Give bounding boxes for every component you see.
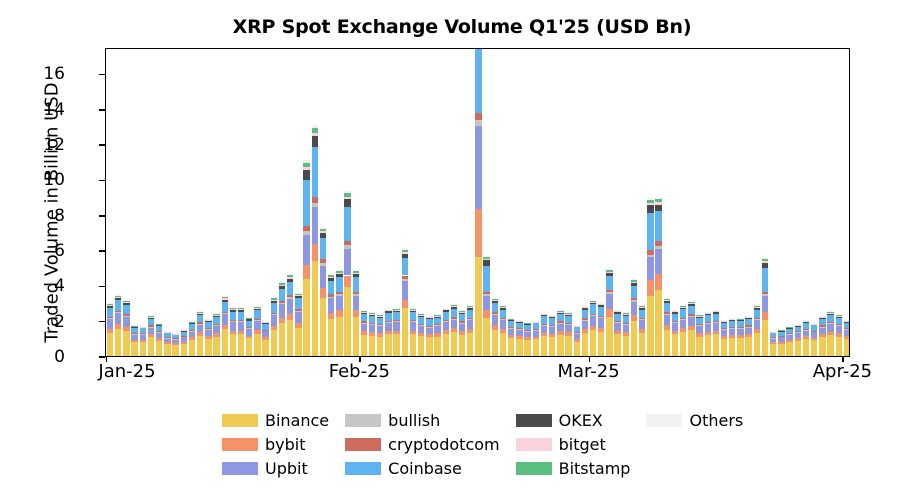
bar-segment-bitget bbox=[533, 322, 539, 323]
bar-segment-coinbase bbox=[443, 312, 449, 320]
bar-segment-bitget bbox=[721, 321, 727, 322]
bar-segment-bullish bbox=[565, 324, 571, 325]
bar-segment-bitget bbox=[287, 277, 293, 278]
bar-segment-bullish bbox=[795, 332, 801, 333]
bar-segment-okex bbox=[385, 311, 391, 313]
bar-segment-bitget bbox=[295, 295, 301, 296]
bar-segment-cryptodotcom bbox=[434, 324, 440, 325]
x-tick-mark bbox=[359, 357, 361, 362]
bar-segment-bybit bbox=[516, 336, 522, 339]
bar-segment-bullish bbox=[623, 324, 629, 325]
bar-segment-coinbase bbox=[402, 258, 408, 276]
bar-segment-okex bbox=[443, 310, 449, 312]
bar-segment-others bbox=[222, 296, 228, 297]
bar-segment-upbit bbox=[197, 325, 203, 333]
bar-segment-coinbase bbox=[156, 326, 162, 331]
bar-segment-binance bbox=[737, 338, 743, 356]
bar-segment-binance bbox=[745, 337, 751, 356]
bar-segment-binance bbox=[205, 339, 211, 356]
bar-segment-bitstamp bbox=[107, 304, 113, 305]
bar-segment-coinbase bbox=[172, 335, 178, 339]
bar-segment-bybit bbox=[713, 331, 719, 335]
bar-segment-bullish bbox=[181, 336, 187, 337]
bar-segment-okex bbox=[344, 199, 350, 206]
bar-segment-bybit bbox=[533, 337, 539, 340]
bar-segment-upbit bbox=[533, 331, 539, 337]
bar-segment-okex bbox=[377, 316, 383, 317]
bar-segment-bybit bbox=[246, 336, 252, 339]
bar-segment-okex bbox=[262, 323, 268, 324]
bar-segment-binance bbox=[459, 335, 465, 356]
bar-segment-bybit bbox=[664, 325, 670, 330]
bar-segment-binance bbox=[140, 342, 146, 356]
bar-segment-upbit bbox=[729, 329, 735, 335]
bar-segment-bitstamp bbox=[639, 306, 645, 307]
bar-segment-bybit bbox=[688, 326, 694, 330]
bar-segment-bitget bbox=[140, 327, 146, 328]
bar-segment-others bbox=[115, 295, 121, 296]
bar-segment-cryptodotcom bbox=[721, 328, 727, 329]
bar-segment-bitget bbox=[729, 319, 735, 320]
bar-segment-cryptodotcom bbox=[107, 317, 113, 318]
bar-segment-coinbase bbox=[639, 310, 645, 318]
legend-item-bullish[interactable]: bullish bbox=[345, 408, 499, 432]
bar-segment-bitget bbox=[197, 313, 203, 314]
bar-segment-bitstamp bbox=[434, 315, 440, 316]
bar-segment-bullish bbox=[492, 314, 498, 315]
bar-segment-bullish bbox=[189, 331, 195, 332]
bar-segment-bitstamp bbox=[836, 315, 842, 316]
bar-segment-bullish bbox=[246, 328, 252, 329]
bar-segment-binance bbox=[533, 339, 539, 356]
bar-segment-upbit bbox=[148, 327, 154, 334]
bar-segment-bullish bbox=[737, 328, 743, 329]
bar-segment-bybit bbox=[795, 338, 801, 340]
bar-segment-binance bbox=[565, 336, 571, 356]
legend-label: Upbit bbox=[265, 459, 308, 478]
bar-segment-bybit bbox=[189, 337, 195, 340]
bar-segment-bitget bbox=[377, 316, 383, 317]
bar-segment-bitstamp bbox=[516, 320, 522, 321]
bar-segment-upbit bbox=[262, 331, 268, 337]
bar-segment-bullish bbox=[131, 334, 137, 335]
bar-segment-others bbox=[549, 315, 555, 316]
bar-segment-bybit bbox=[181, 342, 187, 344]
bar-segment-binance bbox=[754, 333, 760, 356]
bar-segment-bybit bbox=[336, 310, 342, 317]
bar-segment-bullish bbox=[672, 322, 678, 323]
bar-segment-cryptodotcom bbox=[844, 328, 850, 329]
bar-segment-okex bbox=[688, 304, 694, 306]
bar-segment-okex bbox=[582, 308, 588, 310]
bar-segment-binance bbox=[516, 339, 522, 356]
bar-segment-cryptodotcom bbox=[115, 311, 121, 313]
bar-segment-bitget bbox=[762, 261, 768, 263]
bar-segment-coinbase bbox=[745, 319, 751, 325]
bar-segment-cryptodotcom bbox=[271, 313, 277, 315]
bar-segment-coinbase bbox=[459, 314, 465, 321]
bar-segment-bullish bbox=[107, 318, 113, 319]
bar-segment-bybit bbox=[312, 244, 318, 260]
bar-segment-bybit bbox=[762, 312, 768, 319]
bar-segment-bybit bbox=[623, 332, 629, 335]
bar-segment-others bbox=[189, 321, 195, 322]
bar-segment-bitstamp bbox=[303, 163, 309, 167]
legend-item-bitstamp[interactable]: Bitstamp bbox=[516, 456, 631, 480]
bar-segment-binance bbox=[557, 335, 563, 356]
bar-segment-coinbase bbox=[770, 333, 776, 337]
legend-item-bitget[interactable]: bitget bbox=[516, 432, 631, 456]
bar-segment-binance bbox=[336, 317, 342, 356]
bar-segment-bybit bbox=[287, 314, 293, 320]
bar-segment-bullish bbox=[148, 327, 154, 328]
bar-segment-bybit bbox=[598, 328, 604, 332]
bar-segment-cryptodotcom bbox=[664, 312, 670, 314]
bar-segment-bybit bbox=[123, 327, 129, 331]
bar-segment-bitstamp bbox=[754, 306, 760, 307]
bar-segment-coinbase bbox=[123, 305, 129, 315]
bar-segment-binance bbox=[443, 334, 449, 356]
legend-item-others[interactable]: Others bbox=[646, 408, 743, 432]
bar-segment-coinbase bbox=[418, 317, 424, 324]
bar-segment-okex bbox=[164, 332, 170, 333]
bar-segment-bitstamp bbox=[582, 306, 588, 307]
bar-segment-bybit bbox=[320, 288, 326, 298]
bar-segment-coinbase bbox=[729, 321, 735, 327]
bar-segment-others bbox=[590, 300, 596, 301]
bar-segment-others bbox=[623, 312, 629, 313]
bar-segment-upbit bbox=[590, 316, 596, 326]
bar-segment-okex bbox=[705, 314, 711, 315]
bar-segment-coinbase bbox=[254, 310, 260, 318]
bar-segment-coinbase bbox=[353, 277, 359, 291]
bar-segment-upbit bbox=[811, 332, 817, 338]
legend-item-bybit[interactable]: bybit bbox=[222, 432, 329, 456]
bar-segment-cryptodotcom bbox=[647, 250, 653, 254]
bar-segment-bullish bbox=[705, 323, 711, 324]
bar-segment-coinbase bbox=[279, 289, 285, 301]
bar-segment-upbit bbox=[295, 312, 301, 323]
legend-item-binance[interactable]: Binance bbox=[222, 408, 329, 432]
bar-segment-coinbase bbox=[713, 314, 719, 321]
bar-segment-cryptodotcom bbox=[353, 292, 359, 294]
bar-segment-bitstamp bbox=[385, 309, 391, 310]
bar-segment-coinbase bbox=[565, 316, 571, 323]
legend-swatch-icon bbox=[516, 462, 552, 475]
bar-segment-bitstamp bbox=[369, 313, 375, 314]
bar-segment-bitget bbox=[410, 310, 416, 311]
bar-segment-bybit bbox=[565, 332, 571, 335]
bar-segment-bybit bbox=[705, 332, 711, 336]
bar-segment-binance bbox=[418, 336, 424, 356]
bar-segment-okex bbox=[393, 311, 399, 313]
bar-segment-binance bbox=[254, 334, 260, 356]
bar-segment-bybit bbox=[827, 332, 833, 336]
bar-segment-binance bbox=[606, 317, 612, 356]
legend-label: Binance bbox=[265, 411, 329, 430]
bar-segment-cryptodotcom bbox=[156, 331, 162, 332]
bar-segment-bitstamp bbox=[590, 300, 596, 301]
bar-segment-bullish bbox=[328, 297, 334, 299]
bar-segment-cryptodotcom bbox=[762, 292, 768, 294]
bar-segment-upbit bbox=[451, 320, 457, 329]
bar-segment-cryptodotcom bbox=[614, 321, 620, 322]
legend-item-coinbase[interactable]: Coinbase bbox=[345, 456, 499, 480]
bar-segment-others bbox=[369, 312, 375, 313]
bar-segment-upbit bbox=[172, 339, 178, 343]
bar-segment-bullish bbox=[631, 300, 637, 302]
bar-segment-bitget bbox=[745, 317, 751, 318]
bar-segment-coinbase bbox=[541, 316, 547, 323]
bar-segment-bitget bbox=[811, 324, 817, 325]
bar-segment-bitstamp bbox=[361, 311, 367, 312]
bar-segment-okex bbox=[271, 301, 277, 303]
bar-segment-bitstamp bbox=[672, 310, 678, 311]
bar-segment-bybit bbox=[197, 332, 203, 335]
bar-segment-upbit bbox=[672, 323, 678, 331]
y-tick-label: 2 bbox=[54, 312, 65, 332]
bar-segment-cryptodotcom bbox=[303, 226, 309, 231]
bar-segment-bitstamp bbox=[565, 313, 571, 314]
bar-segment-bitstamp bbox=[246, 318, 252, 319]
bar-segment-coinbase bbox=[385, 313, 391, 321]
bar-segment-upbit bbox=[287, 299, 293, 313]
bar-segment-binance bbox=[639, 333, 645, 356]
bar-segment-bitstamp bbox=[164, 331, 170, 332]
bar-segment-bitget bbox=[344, 197, 350, 199]
bar-segment-okex bbox=[713, 312, 719, 314]
bar-segment-bitget bbox=[148, 317, 154, 318]
bar-segment-cryptodotcom bbox=[181, 336, 187, 337]
x-tick-mark bbox=[106, 357, 108, 362]
bar-segment-coinbase bbox=[426, 319, 432, 325]
bar-segment-bitstamp bbox=[574, 325, 580, 326]
bar-segment-bitstamp bbox=[287, 275, 293, 277]
bar-segment-bybit bbox=[328, 313, 334, 319]
bar-segment-okex bbox=[541, 315, 547, 316]
bar-segment-coinbase bbox=[680, 309, 686, 317]
bar-segment-binance bbox=[222, 329, 228, 356]
bar-segment-bitget bbox=[320, 231, 326, 233]
bar-segment-binance bbox=[213, 337, 219, 356]
legend-label: cryptodotcom bbox=[388, 435, 499, 454]
bar-segment-coinbase bbox=[631, 286, 637, 298]
bar-segment-bitget bbox=[385, 310, 391, 311]
bar-segment-cryptodotcom bbox=[148, 325, 154, 326]
bar-segment-bybit bbox=[745, 334, 751, 337]
bar-segment-bitstamp bbox=[795, 324, 801, 325]
bar-segment-bitget bbox=[836, 316, 842, 317]
bar-segment-okex bbox=[672, 312, 678, 314]
bar-segment-bybit bbox=[786, 340, 792, 342]
bar-segment-others bbox=[271, 297, 277, 298]
legend-item-okex[interactable]: OKEX bbox=[516, 408, 631, 432]
bar-segment-others bbox=[639, 305, 645, 306]
bar-segment-okex bbox=[287, 279, 293, 282]
bar-segment-bitget bbox=[803, 321, 809, 322]
bar-segment-bitget bbox=[213, 315, 219, 316]
bar-segment-bitget bbox=[631, 282, 637, 283]
bar-segment-bullish bbox=[639, 319, 645, 320]
bar-segment-upbit bbox=[541, 325, 547, 332]
bar-segment-coinbase bbox=[140, 328, 146, 333]
bar-segment-bitstamp bbox=[492, 299, 498, 300]
bar-segment-binance bbox=[467, 333, 473, 356]
bar-segment-okex bbox=[565, 314, 571, 315]
bar-segment-bitget bbox=[680, 307, 686, 308]
bar-segment-cryptodotcom bbox=[557, 321, 563, 322]
bar-segment-bitget bbox=[312, 133, 318, 137]
bar-segment-bitstamp bbox=[762, 259, 768, 261]
bar-segment-okex bbox=[786, 328, 792, 329]
bar-segment-cryptodotcom bbox=[140, 333, 146, 334]
bar-segment-coinbase bbox=[737, 321, 743, 327]
bar-segment-bullish bbox=[238, 321, 244, 322]
bar-segment-bybit bbox=[819, 334, 825, 337]
bar-segment-bitget bbox=[623, 314, 629, 315]
bar-segment-cryptodotcom bbox=[827, 322, 833, 323]
bar-segment-bitstamp bbox=[745, 316, 751, 317]
bar-segment-cryptodotcom bbox=[672, 321, 678, 322]
bar-segment-others bbox=[459, 310, 465, 311]
bar-segment-okex bbox=[328, 278, 334, 281]
bar-segment-bullish bbox=[295, 311, 301, 312]
bar-segment-bitget bbox=[647, 203, 653, 205]
bar-segment-okex bbox=[426, 318, 432, 319]
bar-segment-bitstamp bbox=[312, 128, 318, 133]
bar-segment-bitget bbox=[516, 321, 522, 322]
bar-segment-bitstamp bbox=[205, 319, 211, 320]
bar-segment-binance bbox=[230, 334, 236, 356]
bar-segment-bitget bbox=[696, 316, 702, 317]
bar-segment-bybit bbox=[524, 337, 530, 340]
bar-segment-bitstamp bbox=[172, 333, 178, 334]
bar-segment-binance bbox=[483, 318, 489, 356]
bar-segment-okex bbox=[606, 273, 612, 276]
bar-segment-bullish bbox=[713, 322, 719, 323]
bar-segment-bullish bbox=[156, 332, 162, 333]
bar-segment-coinbase bbox=[582, 310, 588, 318]
legend-item-upbit[interactable]: Upbit bbox=[222, 456, 329, 480]
bar-segment-bitstamp bbox=[631, 280, 637, 282]
bar-segment-bitget bbox=[451, 306, 457, 307]
bar-segment-okex bbox=[131, 327, 137, 328]
bar-segment-cryptodotcom bbox=[737, 327, 743, 328]
bar-segment-bullish bbox=[647, 255, 653, 258]
y-tick-label: 8 bbox=[54, 206, 65, 226]
bar-segment-upbit bbox=[762, 296, 768, 312]
bar-segment-okex bbox=[434, 316, 440, 317]
bar-segment-bybit bbox=[500, 329, 506, 334]
bar-segment-coinbase bbox=[778, 331, 784, 335]
bar-segment-upbit bbox=[426, 328, 432, 335]
bar-segment-binance bbox=[320, 298, 326, 356]
bar-segment-cryptodotcom bbox=[754, 318, 760, 319]
bar-segment-upbit bbox=[467, 320, 473, 328]
bar-segment-okex bbox=[524, 324, 530, 325]
bar-segment-bitget bbox=[353, 273, 359, 274]
bar-segment-okex bbox=[189, 323, 195, 324]
bar-segment-cryptodotcom bbox=[123, 314, 129, 315]
bar-segment-bullish bbox=[770, 338, 776, 339]
bar-segment-bitstamp bbox=[713, 310, 719, 311]
bar-segment-bitstamp bbox=[115, 296, 121, 297]
bar-segment-others bbox=[262, 321, 268, 322]
legend-swatch-icon bbox=[345, 414, 381, 427]
x-tick-mark bbox=[842, 357, 844, 362]
bar-segment-upbit bbox=[614, 323, 620, 331]
bar-segment-others bbox=[353, 270, 359, 271]
bar-segment-bitstamp bbox=[344, 193, 350, 197]
bar-segment-okex bbox=[745, 318, 751, 319]
bar-segment-cryptodotcom bbox=[361, 321, 367, 322]
bar-segment-upbit bbox=[565, 325, 571, 332]
bar-segment-upbit bbox=[745, 327, 751, 334]
bar-segment-bitstamp bbox=[123, 301, 129, 302]
bar-segment-okex bbox=[238, 310, 244, 312]
bar-segment-bitget bbox=[271, 300, 277, 301]
bar-segment-bullish bbox=[123, 316, 129, 317]
bar-segment-upbit bbox=[754, 320, 760, 328]
bar-segment-cryptodotcom bbox=[426, 326, 432, 327]
x-tick-label: Jan-25 bbox=[98, 361, 155, 382]
bar-segment-bitstamp bbox=[483, 257, 489, 259]
bar-segment-coinbase bbox=[721, 323, 727, 329]
bar-segment-bitstamp bbox=[295, 294, 301, 296]
bar-segment-cryptodotcom bbox=[541, 324, 547, 325]
bar-segment-others bbox=[205, 319, 211, 320]
bar-segment-bullish bbox=[696, 325, 702, 326]
bar-segment-bitstamp bbox=[189, 322, 195, 323]
bar-segment-coinbase bbox=[148, 319, 154, 326]
bar-segment-cryptodotcom bbox=[680, 318, 686, 319]
bar-segment-bullish bbox=[213, 325, 219, 326]
bar-segment-bybit bbox=[549, 334, 555, 337]
bar-segment-okex bbox=[827, 314, 833, 315]
bar-segment-others bbox=[672, 310, 678, 311]
bar-segment-coinbase bbox=[410, 312, 416, 320]
bar-segment-bullish bbox=[434, 325, 440, 326]
bar-segment-bullish bbox=[140, 334, 146, 335]
bar-segment-others bbox=[246, 317, 252, 318]
bar-segment-cryptodotcom bbox=[369, 323, 375, 324]
bar-segment-cryptodotcom bbox=[565, 323, 571, 324]
bar-segment-upbit bbox=[664, 315, 670, 325]
bar-segment-others bbox=[647, 198, 653, 200]
bar-segment-upbit bbox=[303, 235, 309, 265]
bar-segment-bybit bbox=[156, 338, 162, 340]
chart-legend: BinancebybitUpbitbullishcryptodotcomCoin… bbox=[222, 408, 722, 480]
bar-segment-cryptodotcom bbox=[189, 330, 195, 331]
legend-item-cryptodotcom[interactable]: cryptodotcom bbox=[345, 432, 499, 456]
bar-segment-upbit bbox=[516, 330, 522, 336]
bar-segment-bitstamp bbox=[254, 307, 260, 308]
bar-segment-bitstamp bbox=[533, 321, 539, 322]
bar-segment-bitstamp bbox=[238, 308, 244, 309]
bar-segment-bybit bbox=[811, 338, 817, 341]
bar-segment-cryptodotcom bbox=[443, 320, 449, 321]
bar-segment-bitstamp bbox=[426, 316, 432, 317]
bar-segment-bullish bbox=[475, 120, 481, 126]
bar-segment-bybit bbox=[172, 343, 178, 345]
bar-segment-okex bbox=[557, 312, 563, 314]
bar-segment-upbit bbox=[205, 330, 211, 336]
bar-segment-cryptodotcom bbox=[451, 317, 457, 318]
bar-segment-binance bbox=[156, 341, 162, 356]
bar-segment-bybit bbox=[639, 329, 645, 333]
y-tick-label: 6 bbox=[54, 241, 65, 261]
bar-segment-cryptodotcom bbox=[492, 312, 498, 314]
